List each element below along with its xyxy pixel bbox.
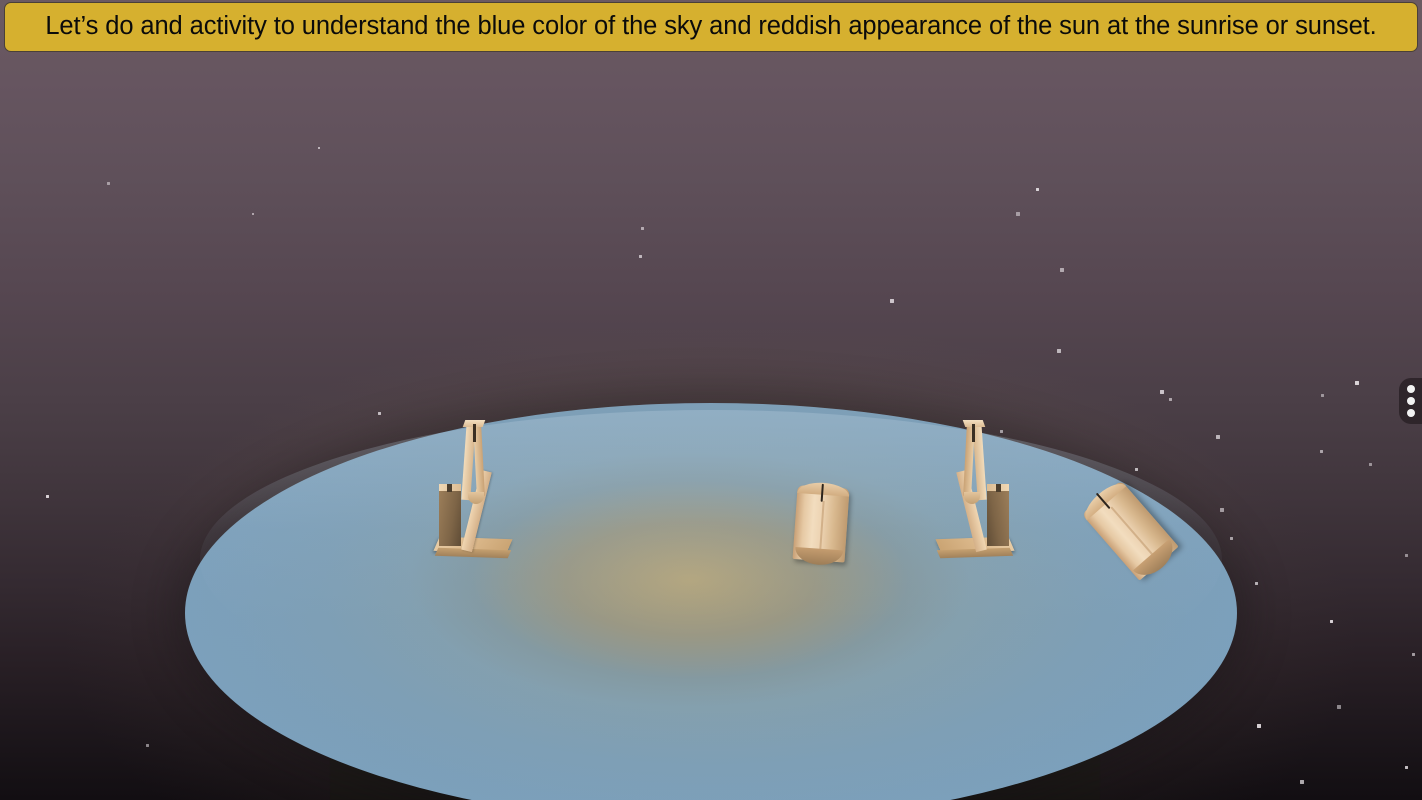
star-dot	[1230, 537, 1233, 540]
stand-right-post-notch	[996, 484, 1001, 492]
star-dot	[1405, 554, 1408, 557]
stand-left-base-front	[435, 548, 511, 559]
star-dot	[1405, 766, 1408, 769]
star-dot	[641, 227, 644, 230]
stand-left-post-dark	[439, 486, 461, 546]
star-dot	[146, 744, 149, 747]
star-dot	[1057, 349, 1061, 353]
star-dot	[46, 495, 49, 498]
star-dot	[1330, 620, 1333, 623]
star-dot	[1412, 653, 1415, 656]
star-dot	[1355, 381, 1359, 385]
star-dot	[318, 147, 320, 149]
kebab-menu-button[interactable]	[1399, 378, 1422, 424]
star-dot	[639, 255, 642, 258]
star-dot	[1060, 268, 1064, 272]
kebab-menu-dot-1	[1407, 385, 1415, 393]
star-dot	[1255, 582, 1258, 585]
star-dot	[107, 182, 110, 185]
star-dot	[1160, 390, 1164, 394]
star-dot	[1169, 398, 1172, 401]
star-dot	[1220, 508, 1224, 512]
stand-left-post-notch	[447, 484, 452, 492]
wooden-clamp-stand-left[interactable]	[430, 418, 520, 573]
stand-right-clamp-gap	[972, 424, 975, 442]
star-dot	[1036, 188, 1039, 191]
half-cylinder-center-bottom-cap	[794, 547, 843, 566]
stand-right-clamp-foot	[964, 492, 980, 504]
star-dot	[1321, 394, 1324, 397]
star-dot	[1216, 435, 1220, 439]
sky-background	[0, 0, 1422, 800]
star-dot	[1016, 212, 1020, 216]
star-dot	[890, 299, 894, 303]
star-dot	[252, 213, 254, 215]
simulation-stage: Let’s do and activity to understand the …	[0, 0, 1422, 800]
star-dot	[1300, 780, 1304, 784]
star-dot	[1257, 724, 1261, 728]
kebab-menu-dot-3	[1407, 409, 1415, 417]
half-cylinder-center[interactable]	[792, 481, 856, 569]
stand-right-post-dark	[987, 486, 1009, 546]
wooden-clamp-stand-right[interactable]	[928, 418, 1018, 573]
stand-left-clamp-gap	[473, 424, 476, 442]
star-dot	[1369, 463, 1372, 466]
instruction-banner: Let’s do and activity to understand the …	[4, 2, 1418, 52]
star-dot	[1320, 450, 1323, 453]
star-dot	[1337, 705, 1341, 709]
kebab-menu-dot-2	[1407, 397, 1415, 405]
star-dot	[378, 412, 381, 415]
